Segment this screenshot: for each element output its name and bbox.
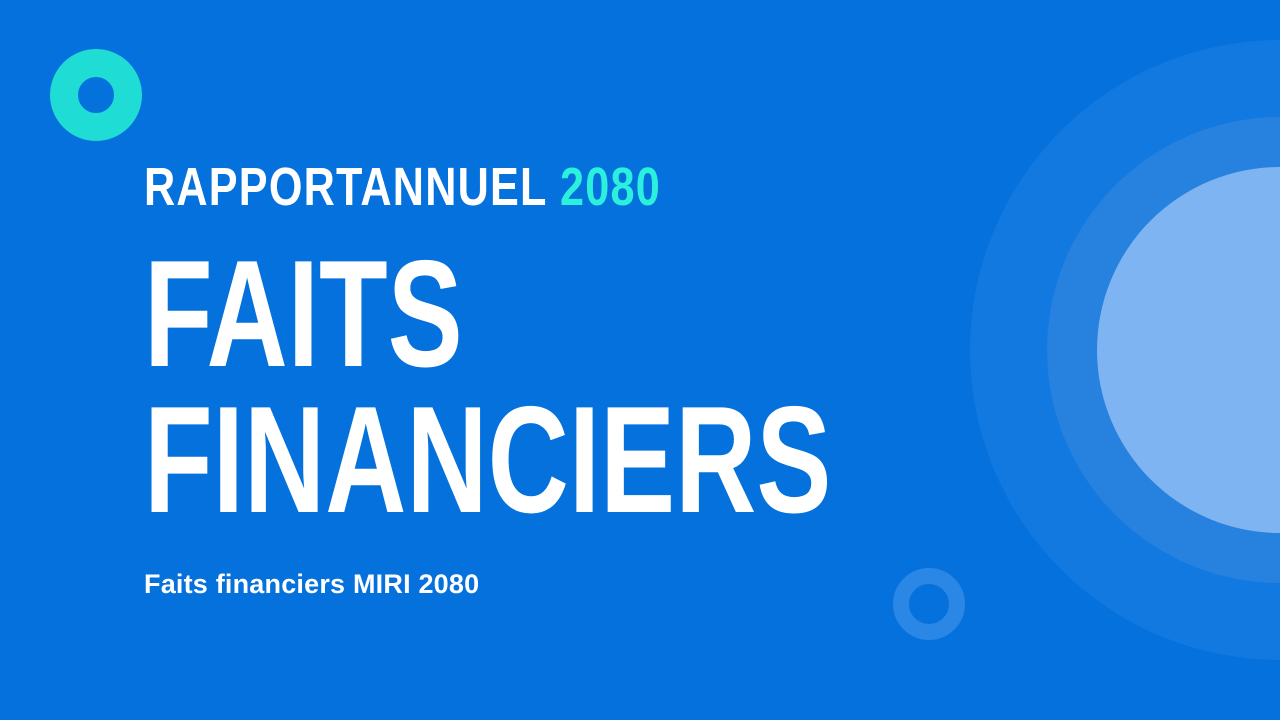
outer-ring-shape	[970, 40, 1280, 660]
headline-line-1: FAITS	[144, 242, 706, 386]
title-slide: RAPPORTANNUEL 2080 FAITS FINANCIERS Fait…	[0, 0, 1280, 720]
eyebrow-year: 2080	[560, 157, 661, 217]
inner-circle-shape	[1097, 167, 1280, 533]
subtitle-text: Faits financiers MIRI 2080	[144, 569, 904, 600]
eyebrow-line: RAPPORTANNUEL 2080	[144, 160, 752, 214]
eyebrow-label: RAPPORTANNUEL	[144, 157, 547, 217]
middle-ring-shape	[1047, 117, 1280, 583]
title-block: RAPPORTANNUEL 2080 FAITS FINANCIERS Fait…	[144, 160, 904, 600]
headline-line-2: FINANCIERS	[144, 388, 706, 532]
ring-logo-icon	[50, 49, 142, 141]
